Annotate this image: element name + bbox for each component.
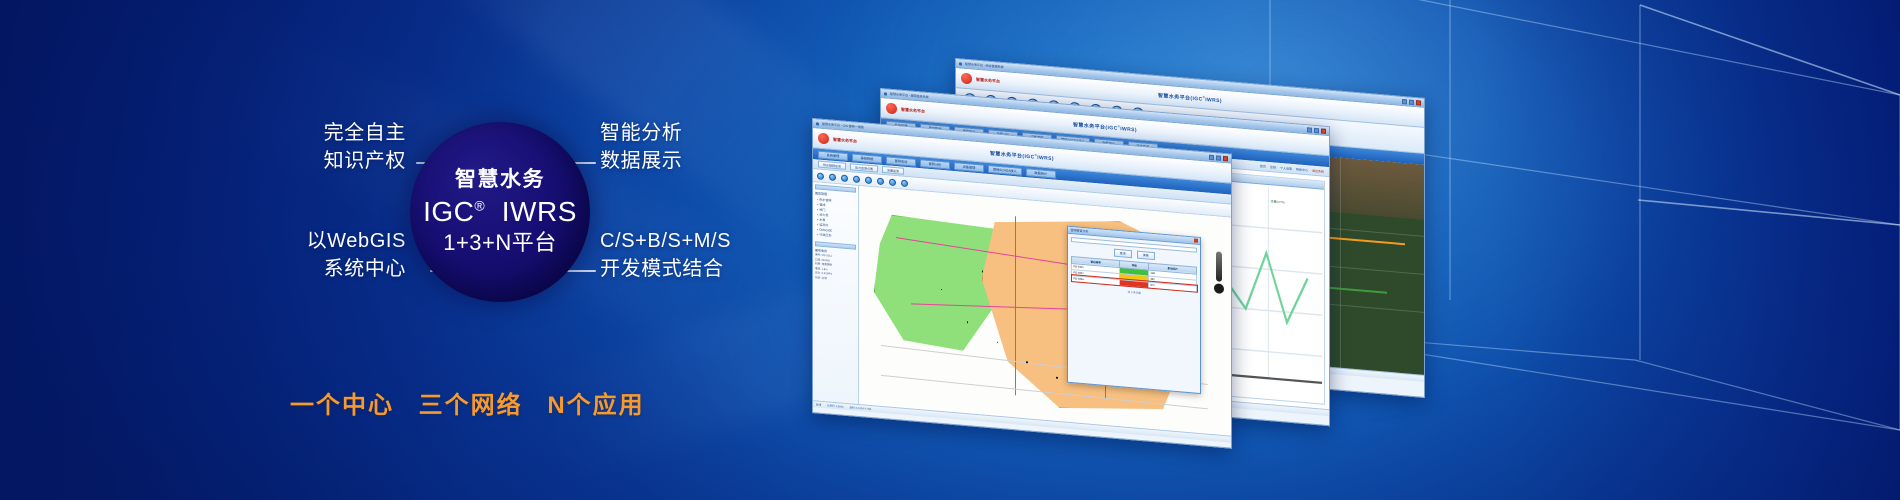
company-logo-icon — [961, 73, 972, 85]
tagline-part3: N个应用 — [547, 392, 644, 419]
company-logo-icon — [818, 133, 829, 145]
sub-nav-item[interactable]: 供水管网总览 — [818, 161, 846, 170]
feature-label-top-left: 完全自主 知识产权 — [278, 120, 406, 175]
app-title-pre: 智慧水务平台(IGC — [990, 150, 1035, 160]
status-item: 就绪 — [816, 402, 821, 406]
registered-icon: ® — [1203, 95, 1206, 99]
feature-label-line2: 数据展示 — [600, 148, 682, 176]
minimize-icon[interactable] — [1209, 154, 1214, 159]
property-key: 状态 — [815, 276, 820, 279]
status-item: 比例尺 1:5000 — [827, 403, 843, 408]
layer-panel[interactable]: 图层管理 供水管网 管线 阀门 消火栓 水表 监测点 DMA分区 行政区划 属性… — [813, 182, 859, 404]
property-value: DN300 — [822, 258, 830, 262]
brand-name: 智慧水务平台 — [833, 136, 857, 144]
property-key: 材质 — [815, 262, 820, 265]
util-link[interactable]: 帮助中心 — [1296, 167, 1308, 172]
feature-label-line1: C/S+B/S+M/S — [600, 228, 731, 256]
analysis-dialog[interactable]: 管网爆管分析 查询 清除 — [1067, 225, 1201, 393]
close-icon[interactable] — [1416, 100, 1421, 105]
property-value: PG-0211 — [822, 254, 832, 258]
map-node — [997, 342, 999, 344]
window-title: 智慧水务平台 - 综合管理系统 — [965, 62, 1004, 69]
feature-label-line2: 开发模式结合 — [600, 256, 731, 284]
feature-label-line1: 以WebGIS — [256, 228, 406, 256]
minimize-icon[interactable] — [1307, 127, 1312, 132]
property-value: 1.8m — [822, 268, 828, 271]
window-controls[interactable] — [1209, 154, 1228, 161]
cell-status — [1120, 279, 1149, 287]
property-value: 正常 — [822, 277, 827, 280]
select-icon[interactable] — [853, 175, 860, 183]
zoom-in-icon[interactable] — [829, 173, 836, 181]
query-button[interactable]: 查询 — [1114, 248, 1132, 258]
layer-tree[interactable]: 供水管网 管线 阀门 消火栓 水表 监测点 DMA分区 行政区划 — [815, 197, 856, 240]
tagline-part2: 三个网络 — [419, 392, 523, 419]
property-key: 口径 — [815, 258, 820, 261]
registered-icon: ® — [1118, 124, 1121, 128]
screenshot-stack: 智慧水务平台 - 综合管理系统 智慧水务平台 智慧水务平台(IGC®IWRS) … — [790, 40, 1900, 460]
measure-icon[interactable] — [865, 176, 872, 184]
grid-line — [1340, 158, 1341, 368]
window-controls[interactable] — [1402, 98, 1421, 105]
feature-label-bottom-left: 以WebGIS 系统中心 — [256, 228, 406, 283]
hub-line3: 1+3+N平台 — [443, 230, 557, 257]
feature-label-line2: 知识产权 — [278, 148, 406, 176]
hub-product: IWRS — [502, 196, 577, 227]
app-title-post: IWRS) — [1205, 97, 1222, 104]
sub-nav-item[interactable]: 流量监测 — [882, 166, 904, 175]
app-title-post: IWRS) — [1120, 126, 1137, 133]
print-icon[interactable] — [889, 178, 896, 186]
feature-label-top-right: 智能分析 数据展示 — [600, 120, 682, 175]
map-node — [1056, 377, 1058, 379]
app-icon — [884, 92, 887, 95]
property-value: 0.32MPa — [822, 272, 832, 276]
feature-label-line1: 智能分析 — [600, 120, 682, 148]
dialog-body: 查询 清除 管段编号 等级 影响用户 — [1068, 234, 1200, 303]
util-link[interactable]: 个人设置 — [1280, 165, 1292, 170]
maximize-icon[interactable] — [1216, 155, 1221, 160]
window-title: 智慧水务平台 - 管网信息系统 — [890, 92, 929, 99]
tagline: 一个中心 三个网络 N个应用 — [290, 385, 645, 420]
app-title-pre: 智慧水务平台(IGC — [1158, 93, 1203, 103]
app-window-front[interactable]: 智慧水务平台 - GIS 管网一张图 智慧水务平台 智慧水务平台(IGC®IWR… — [812, 118, 1232, 449]
pipeline — [1015, 217, 1016, 396]
property-key: 压力 — [815, 272, 820, 275]
registered-icon: ® — [1035, 153, 1038, 157]
maximize-icon[interactable] — [1314, 127, 1319, 132]
feature-label-bottom-right: C/S+B/S+M/S 开发模式结合 — [600, 228, 731, 283]
maximize-icon[interactable] — [1409, 99, 1414, 104]
zoom-slider[interactable] — [1216, 251, 1222, 282]
tagline-part1: 一个中心 — [290, 392, 394, 419]
app-title-pre: 智慧水务平台(IGC — [1073, 122, 1118, 132]
window-controls[interactable] — [1307, 127, 1326, 134]
pan-compass-icon[interactable] — [1214, 283, 1224, 294]
minimize-icon[interactable] — [1402, 98, 1407, 103]
util-link[interactable]: 首页 — [1260, 164, 1266, 169]
feature-label-line1: 完全自主 — [278, 120, 406, 148]
concept-diagram: 完全自主 知识产权 以WebGIS 系统中心 智能分析 数据展示 C/S+B/S… — [270, 100, 790, 370]
dialog-title: 管网爆管分析 — [1070, 228, 1088, 234]
hub-brand: IGC — [423, 196, 474, 227]
util-link[interactable]: 退出系统 — [1312, 168, 1324, 173]
feature-label-line2: 系统中心 — [256, 256, 406, 284]
map-node — [1026, 362, 1028, 364]
window-title: 智慧水务平台 - GIS 管网一张图 — [822, 122, 864, 130]
close-icon[interactable] — [1194, 238, 1198, 242]
hub-line2: IGC® IWRS — [423, 195, 577, 229]
identify-icon[interactable] — [877, 177, 884, 185]
brand-name: 智慧水务平台 — [901, 106, 925, 114]
app-icon — [816, 122, 819, 125]
hub-line1: 智慧水务 — [455, 167, 545, 193]
workspace: 图层管理 供水管网 管线 阀门 消火栓 水表 监测点 DMA分区 行政区划 属性… — [813, 182, 1231, 436]
company-logo-icon — [886, 103, 897, 115]
sub-nav-item[interactable]: 压力监测点图 — [850, 163, 878, 172]
close-icon[interactable] — [1321, 128, 1326, 133]
gis-map-canvas[interactable]: 管网爆管分析 查询 清除 — [859, 186, 1231, 436]
app-icon — [959, 62, 962, 65]
fullscreen-icon[interactable] — [901, 179, 908, 187]
map-navigation-control[interactable] — [1214, 251, 1224, 294]
status-item: 坐标 X:1024 Y:768 — [850, 405, 871, 411]
pan-icon[interactable] — [817, 172, 824, 180]
property-value: 球墨铸铁 — [822, 263, 832, 267]
close-icon[interactable] — [1223, 155, 1228, 160]
hub-circle: 智慧水务 IGC® IWRS 1+3+N平台 — [410, 122, 590, 302]
property-key: 埋深 — [815, 267, 820, 270]
util-link[interactable]: 注销 — [1270, 165, 1276, 170]
clear-button[interactable]: 清除 — [1137, 250, 1155, 260]
brand-name: 智慧水务平台 — [976, 76, 1000, 84]
property-list: 编号: PG-0211 口径: DN300 材质: 球墨铸铁 埋深: 1.8m … — [815, 253, 856, 284]
app-title-post: IWRS) — [1037, 154, 1054, 161]
zoom-out-icon[interactable] — [841, 174, 848, 182]
registered-icon: ® — [474, 198, 485, 214]
hero-banner: 完全自主 知识产权 以WebGIS 系统中心 智能分析 数据展示 C/S+B/S… — [0, 0, 1900, 500]
property-key: 编号 — [815, 253, 820, 256]
